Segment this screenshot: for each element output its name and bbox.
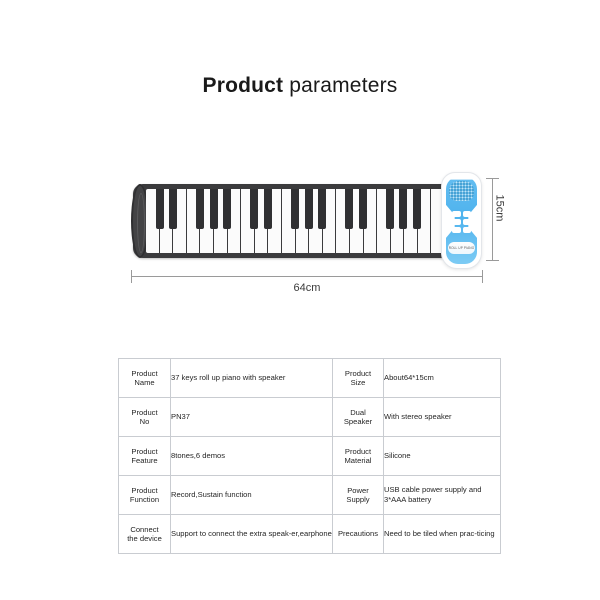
table-row: Connectthe deviceSupport to connect the …	[119, 515, 501, 554]
table-row: ProductFunctionRecord,Sustain functionPo…	[119, 476, 501, 515]
speaker-grille-icon	[449, 181, 474, 201]
white-key	[146, 189, 160, 253]
white-key	[282, 189, 296, 253]
row-label-left: Connectthe device	[119, 515, 171, 554]
row-value-left: 37 keys roll up piano with speaker	[171, 359, 333, 398]
row-value-left: Support to connect the extra speak-er,ea…	[171, 515, 333, 554]
white-key	[200, 189, 214, 253]
row-value-left: 8tones,6 demos	[171, 437, 333, 476]
speaker-control-panel: ROLL UP PIANO	[441, 172, 482, 269]
control-button	[463, 227, 472, 233]
white-key	[350, 189, 364, 253]
white-key	[160, 189, 174, 253]
white-key	[241, 189, 255, 253]
height-dimension-label: 15cm	[493, 195, 505, 222]
row-value-right: Silicone	[384, 437, 501, 476]
row-label-right: PowerSupply	[333, 476, 384, 515]
white-key	[323, 189, 337, 253]
table-row: ProductNoPN37DualSpeakerWith stereo spea…	[119, 398, 501, 437]
row-label-left: ProductFeature	[119, 437, 171, 476]
row-value-right: With stereo speaker	[384, 398, 501, 437]
white-key	[173, 189, 187, 253]
white-key	[418, 189, 432, 253]
control-button-grid	[452, 211, 471, 233]
row-label-left: ProductFunction	[119, 476, 171, 515]
control-button	[463, 219, 472, 225]
row-value-left: Record,Sustain function	[171, 476, 333, 515]
row-value-right: USB cable power supply and 3*AAA battery	[384, 476, 501, 515]
row-label-right: ProductMaterial	[333, 437, 384, 476]
white-key	[364, 189, 378, 253]
white-key	[377, 189, 391, 253]
width-dimension-label: 64cm	[131, 282, 483, 294]
product-parameters-table: ProductName37 keys roll up piano with sp…	[118, 358, 501, 554]
control-button	[463, 211, 472, 217]
page-title-strong: Product	[203, 74, 284, 97]
white-key	[404, 189, 418, 253]
white-key	[255, 189, 269, 253]
white-key	[214, 189, 228, 253]
row-label-right: Precautions	[333, 515, 384, 554]
white-key	[296, 189, 310, 253]
row-value-right: Need to be tiled when prac-ticing	[384, 515, 501, 554]
row-value-right: About64*15cm	[384, 359, 501, 398]
page-title: Product parameters	[0, 74, 600, 98]
white-key	[228, 189, 242, 253]
white-key	[391, 189, 405, 253]
white-key	[309, 189, 323, 253]
panel-logo-label: ROLL UP PIANO	[448, 242, 475, 254]
product-illustration: ROLL UP PIANO 64cm 15cm	[0, 150, 600, 320]
control-button	[452, 211, 461, 217]
row-label-left: ProductNo	[119, 398, 171, 437]
white-keys-group	[146, 189, 444, 253]
white-key	[268, 189, 282, 253]
row-label-left: ProductName	[119, 359, 171, 398]
table-row: ProductName37 keys roll up piano with sp…	[119, 359, 501, 398]
row-label-right: DualSpeaker	[333, 398, 384, 437]
white-key	[336, 189, 350, 253]
page-title-light: parameters	[283, 74, 397, 97]
row-value-left: PN37	[171, 398, 333, 437]
control-button	[452, 227, 461, 233]
width-dimension-line	[131, 276, 483, 277]
table-row: ProductFeature8tones,6 demosProductMater…	[119, 437, 501, 476]
row-label-right: ProductSize	[333, 359, 384, 398]
white-key	[187, 189, 201, 253]
control-button	[452, 219, 461, 225]
